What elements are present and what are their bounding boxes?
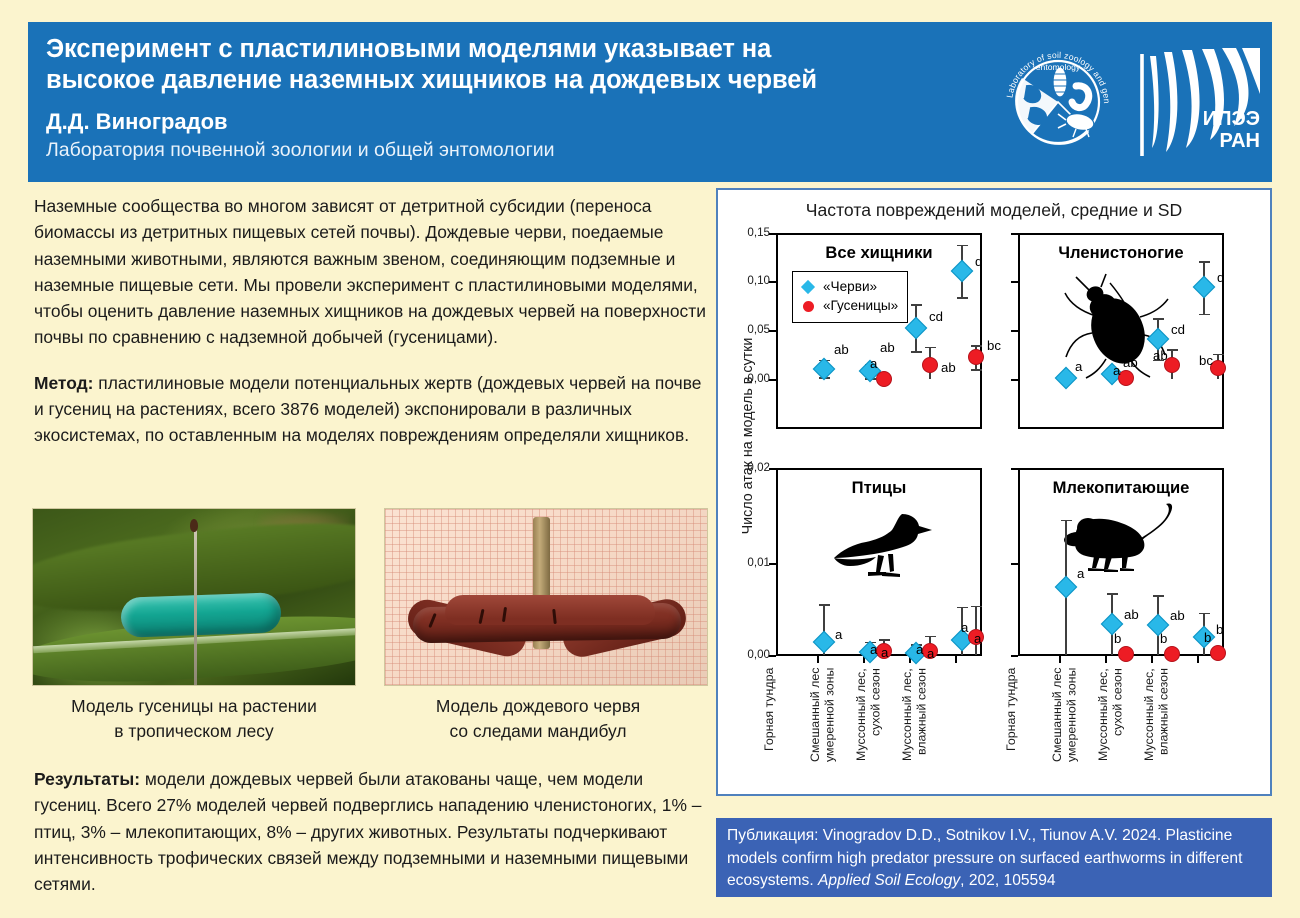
- photo-teal-plasticine-model: [120, 592, 281, 638]
- significance-letter: bc: [987, 338, 1001, 353]
- xtick-mark: [817, 656, 819, 663]
- photo-worm-highlight: [445, 595, 655, 625]
- significance-letter: a: [870, 356, 877, 371]
- significance-letter: bc: [1199, 353, 1213, 368]
- error-bar-cap: [1199, 314, 1210, 316]
- ytick-label: 0,00: [728, 372, 770, 385]
- error-bar-cap: [1061, 520, 1072, 522]
- significance-letter: ab: [1124, 607, 1139, 622]
- error-bar-cap: [911, 304, 922, 306]
- citation-suffix: , 202, 105594: [960, 872, 1055, 889]
- xcat-label: Муссонный лес, влажный сезон: [900, 668, 930, 786]
- xtick-mark: [1105, 656, 1107, 663]
- poster-author: Д.Д. Виноградов: [46, 108, 1036, 135]
- error-bar-cap: [1153, 318, 1164, 320]
- xcat-label: Смешанный лес умеренной зоны: [808, 668, 838, 786]
- xcat-label: Смешанный лес умеренной зоны: [1050, 668, 1080, 786]
- lab-logo-icon: Laboratory of soil zoology and general e…: [992, 34, 1124, 166]
- xtick-mark: [1197, 656, 1199, 663]
- error-bar-cap: [1153, 595, 1164, 597]
- significance-letter: ab: [834, 342, 849, 357]
- chart-panel-arthropods: Членистоногие: [1018, 233, 1224, 429]
- data-point-caterpillars: [922, 357, 938, 373]
- ytick-mark: [769, 233, 776, 235]
- significance-letter: a: [974, 631, 981, 646]
- poster-title-line2: высокое давление наземных хищников на до…: [46, 65, 1036, 96]
- data-point-caterpillars: [1164, 646, 1180, 662]
- ytick-label: 0,15: [728, 226, 770, 239]
- ytick-mark: [1011, 655, 1018, 657]
- error-bar-cap: [819, 604, 830, 606]
- bird-silhouette-icon: [824, 500, 934, 582]
- ytick-mark: [769, 655, 776, 657]
- ytick-mark: [769, 281, 776, 283]
- intro-paragraph: Наземные сообщества во многом зависят от…: [34, 193, 706, 351]
- significance-letter: cd: [929, 309, 943, 324]
- legend-item-worms: «Черви»: [800, 278, 898, 296]
- significance-letter: a: [835, 627, 842, 642]
- xcat-label: Муссонный лес, сухой сезон: [1096, 668, 1126, 786]
- chart-panel-mammals: Млекопитающие: [1018, 468, 1224, 656]
- legend-item-caterpillars: «Гусеницы»: [800, 297, 898, 315]
- ytick-mark: [1011, 563, 1018, 565]
- chart-panel-all-predators: Все хищники «Черви» «Гусеницы»: [776, 233, 982, 429]
- chart-panel-birds: Птицы: [776, 468, 982, 656]
- significance-letter: a: [961, 620, 968, 635]
- significance-letter: b: [1114, 631, 1121, 646]
- left-text-column: Наземные сообщества во многом зависят от…: [34, 193, 706, 449]
- poster-title-line1: Эксперимент с пластилиновыми моделями ук…: [46, 34, 1036, 65]
- ytick-mark: [769, 330, 776, 332]
- significance-letter: ab: [1170, 608, 1185, 623]
- method-text: пластилиновые модели потенциальных жертв…: [34, 373, 701, 446]
- photo-caption-right: Модель дождевого червя со следами мандиб…: [376, 694, 700, 744]
- panel-title: Членистоногие: [1020, 243, 1222, 263]
- significance-letter: a: [881, 645, 888, 660]
- data-point-caterpillars: [1210, 645, 1226, 661]
- data-point-caterpillars: [1118, 646, 1134, 662]
- results-paragraph: Результаты: модели дождевых червей были …: [34, 766, 706, 897]
- significance-letter: a: [1075, 359, 1082, 374]
- error-bar-cap: [957, 297, 968, 299]
- diamond-marker-icon: [800, 282, 816, 292]
- ytick-mark: [1011, 233, 1018, 235]
- error-bar-cap: [1167, 349, 1178, 351]
- significance-letter: cd: [1171, 322, 1185, 337]
- error-bar-cap: [971, 369, 982, 371]
- ytick-label: 0,05: [728, 323, 770, 336]
- publication-citation: Публикация: Vinogradov D.D., Sotnikov I.…: [716, 818, 1272, 897]
- method-paragraph: Метод: пластилиновые модели потенциальны…: [34, 370, 706, 449]
- figure-panel: Частота повреждений моделей, средние и S…: [716, 188, 1272, 796]
- xtick-mark: [955, 656, 957, 663]
- data-point-caterpillars: [876, 371, 892, 387]
- error-bar-cap: [911, 351, 922, 353]
- significance-letter: b: [1204, 630, 1211, 645]
- error-bar-cap: [1213, 354, 1224, 356]
- ytick-label: 0,00: [728, 648, 770, 661]
- legend-label: «Черви»: [823, 278, 877, 296]
- circle-marker-icon: [800, 301, 816, 312]
- results-label: Результаты:: [34, 769, 140, 789]
- significance-letter: a: [916, 642, 923, 657]
- poster-root: Эксперимент с пластилиновыми моделями ук…: [0, 0, 1300, 918]
- ytick-mark: [1011, 379, 1018, 381]
- error-bar-cap: [925, 347, 936, 349]
- photo-row: [32, 508, 708, 686]
- ipee-logo-text: ИПЭЭ РАН: [1203, 108, 1260, 152]
- ytick-mark: [1011, 468, 1018, 470]
- xcat-label: Муссонный лес, сухой сезон: [854, 668, 884, 786]
- error-bar-cap: [971, 345, 982, 347]
- method-label: Метод:: [34, 373, 93, 393]
- significance-letter: d: [975, 254, 982, 269]
- ytick-mark: [1011, 281, 1018, 283]
- ytick-label: 0,02: [728, 461, 770, 474]
- ytick-mark: [1011, 330, 1018, 332]
- header-text-block: Эксперимент с пластилиновыми моделями ук…: [46, 34, 1036, 163]
- significance-letter: b: [1160, 631, 1167, 646]
- significance-letter: ab: [880, 340, 895, 355]
- photo-caption-left: Модель гусеницы на растении в тропическо…: [32, 694, 356, 744]
- legend-label: «Гусеницы»: [823, 297, 898, 315]
- panel-title: Млекопитающие: [1020, 478, 1222, 498]
- svg-text:entomology: entomology: [1036, 62, 1081, 72]
- photo-earthworm-model: [384, 508, 708, 686]
- panel-title: Птицы: [778, 478, 980, 498]
- photo-caterpillar-model: [32, 508, 356, 686]
- significance-letter: ab: [1123, 355, 1138, 370]
- ytick-mark: [769, 379, 776, 381]
- ipee-logo-line1: ИПЭЭ: [1203, 108, 1260, 130]
- photo-pin-head: [190, 519, 198, 532]
- error-bar-cap: [957, 607, 968, 609]
- photo-pin-shaft: [194, 523, 197, 686]
- mouse-silhouette-icon: [1060, 502, 1185, 572]
- significance-letter: a: [927, 646, 934, 661]
- xcat-label: Горная тундра: [1004, 668, 1034, 786]
- citation-journal: Applied Soil Ecology: [818, 872, 960, 889]
- xtick-mark: [1151, 656, 1153, 663]
- poster-lab-affiliation: Лаборатория почвенной зоологии и общей э…: [46, 138, 1036, 163]
- ipee-logo-icon: ИПЭЭ РАН: [1130, 36, 1264, 166]
- error-bar-cap: [879, 639, 890, 641]
- ytick-label: 0,01: [728, 556, 770, 569]
- ipee-logo-line2: РАН: [1203, 130, 1260, 152]
- error-bar-cap: [1107, 593, 1118, 595]
- ytick-mark: [769, 563, 776, 565]
- chart-legend: «Черви» «Гусеницы»: [792, 271, 908, 323]
- chart-title: Частота повреждений моделей, средние и S…: [718, 200, 1270, 221]
- significance-letter: d: [1217, 270, 1224, 285]
- ytick-mark: [769, 468, 776, 470]
- ytick-label: 0,10: [728, 274, 770, 287]
- significance-letter: a: [1113, 363, 1120, 378]
- xtick-mark: [1059, 656, 1061, 663]
- error-bar-cap: [971, 606, 982, 608]
- significance-letter: a: [870, 642, 877, 657]
- xcat-label: Горная тундра: [762, 668, 792, 786]
- significance-letter: b: [1216, 622, 1223, 637]
- error-bar-cap: [925, 636, 936, 638]
- xcat-label: Муссонный лес, влажный сезон: [1142, 668, 1172, 786]
- significance-letter: ab: [1153, 348, 1168, 363]
- error-bar-cap: [1199, 613, 1210, 615]
- significance-letter: ab: [941, 360, 956, 375]
- poster-header: Эксперимент с пластилиновыми моделями ук…: [28, 22, 1272, 182]
- panel-title: Все хищники: [778, 243, 980, 263]
- significance-letter: a: [1077, 566, 1084, 581]
